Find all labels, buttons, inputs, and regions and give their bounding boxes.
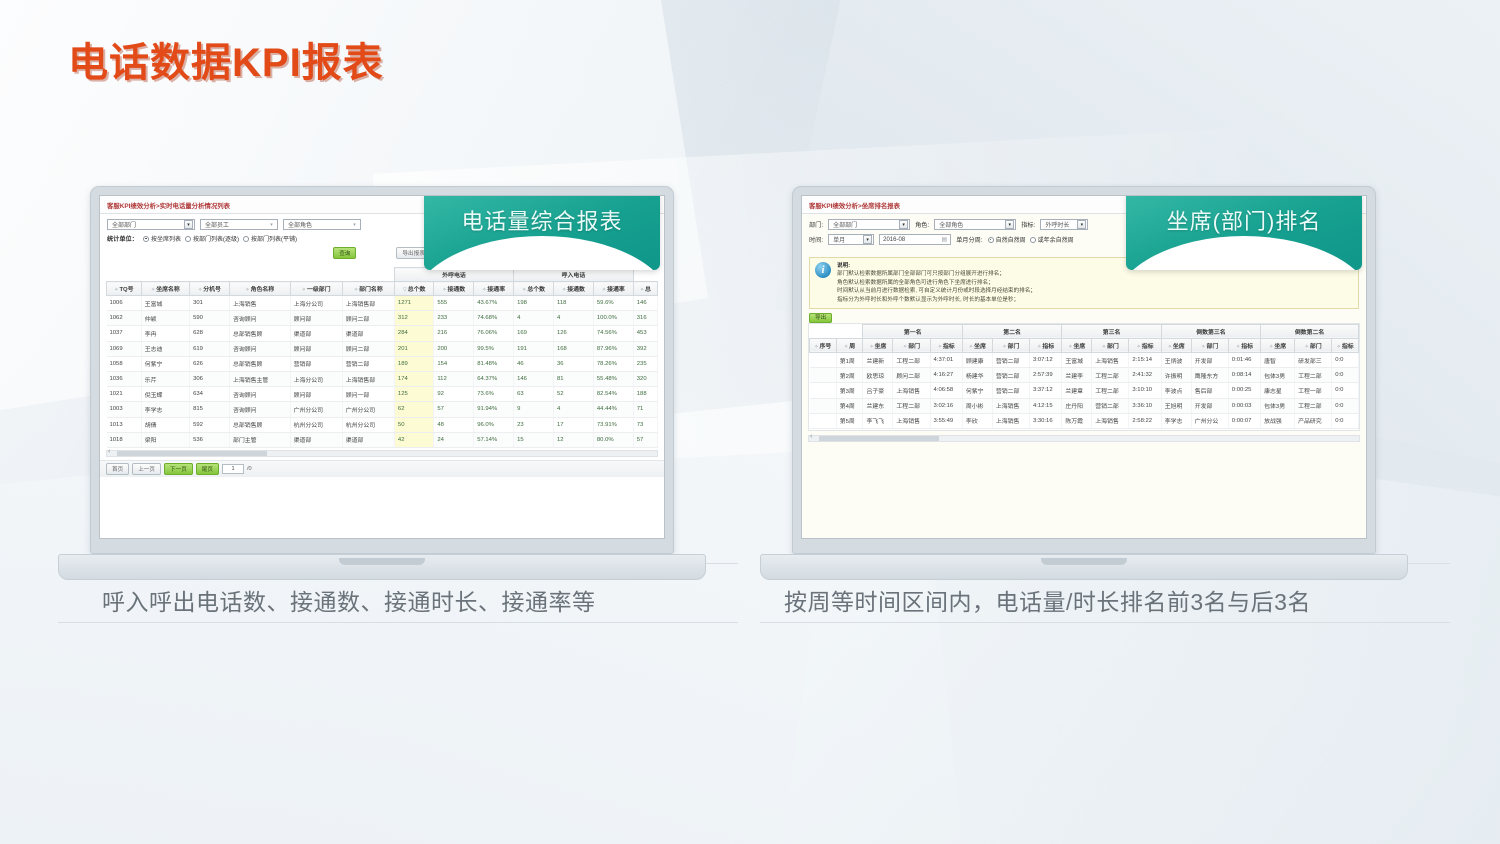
table-cell: 81 [554,371,594,386]
table-column-header-row: ✧序号✧周✧坐席✧部门✧指标✧坐席✧部门✧指标✧坐席✧部门✧指标✧坐席✧部门✧指… [810,338,1359,352]
col-1[interactable]: ✧周 [836,338,863,352]
sort-icon: ✧ [1068,344,1072,350]
ribbon-label-right: 坐席(部门)排名 [1167,204,1322,236]
table-row[interactable]: 1037李冉628总部销售顾渠道部渠道部28421676.06%16912674… [107,326,658,341]
col-0[interactable]: ✧序号 [810,338,837,352]
table-cell: 杭州分公司 [290,417,342,432]
page-number-input[interactable]: 1 [222,464,244,474]
table-cell: 兰建东 [863,398,893,413]
table-cell: 营销二部 [992,352,1029,367]
table-container-right: 第一名 第二名 第三名 倒数第三名 倒数第二名 ✧序号✧周✧坐席✧部门✧指标✧坐… [808,323,1360,431]
staff-select[interactable]: 全部员工 ▾ [200,219,278,230]
table-cell: 233 [434,311,474,326]
table-cell: 3:36:10 [1129,398,1161,413]
table-cell: 44.44% [593,402,633,417]
chevron-down-icon: ▾ [267,220,276,229]
table-cell: 74.68% [474,311,514,326]
table-cell: 15 [514,432,554,447]
sort-icon: ✧ [1337,344,1341,350]
role-select-right[interactable]: 全部角色 ▾ [934,219,1016,230]
table-column-header-row: ✧TQ号 ✧坐席名称 ✧分机号 ✧角色名称 ✧一级部门 ✧部门名称 ▽总个数 ✧… [107,282,658,296]
table-cell: 顾问一部 [342,387,394,402]
col-10[interactable]: ✧指标 [1129,338,1161,352]
table-cell: 王炳波 [1161,352,1191,367]
table-cell: 2:58:22 [1129,413,1161,428]
col-out-connected[interactable]: ✧接通数 [434,282,474,296]
col-ext[interactable]: ✧分机号 [190,282,230,296]
table-row[interactable]: 第2周欧思琼顾问二部4:16:27杨建华营销二部2:57:39兰建李工程二部2:… [810,368,1359,383]
staff-select-value: 全部员工 [205,220,229,229]
next-page-button[interactable]: 下一页 [164,463,193,475]
col-tq[interactable]: ✧TQ号 [107,282,142,296]
table-container-left: 外呼电话 呼入电话 ✧TQ号 ✧坐席名称 ✧分机号 ✧角色名称 ✧一级部门 ✧部… [100,267,664,448]
table-cell: 兰建新 [863,352,893,367]
table-cell: 顾问部 [290,341,342,356]
col-dept[interactable]: ✧部门名称 [342,282,394,296]
table-cell: 顾问二部 [342,311,394,326]
table-cell: 1006 [107,296,142,311]
table-cell: 唐智 [1261,352,1295,367]
table-cell: 0:00:03 [1228,398,1260,413]
table-cell: 12 [554,432,594,447]
horizontal-scrollbar-left[interactable] [106,450,658,457]
table-cell: 154 [434,356,474,371]
table-cell: 555 [434,296,474,311]
table-cell: 99.5% [474,341,514,356]
group-header-bottom3: 倒数第三名 [1161,324,1260,338]
laptop-base-right [760,554,1408,580]
table-cell: 62 [394,402,433,417]
table-cell: 杨建华 [962,368,992,383]
divider-right-bottom [760,622,1450,623]
table-cell: 营销部 [290,356,342,371]
chevron-down-icon: ▾ [1005,220,1014,229]
group-header-bottom2: 倒数第二名 [1261,324,1359,338]
unit-radio-1[interactable]: 按部门列表(逐级) [185,234,239,243]
col-7[interactable]: ✧指标 [1029,338,1061,352]
ribbon-label-left: 电话量综合报表 [461,204,622,236]
table-cell: 0:0 [1332,383,1359,398]
table-cell: 咨询顾问 [229,341,290,356]
table-cell: 上海销售部 [342,296,394,311]
info-line-1: 角色默认检索数据所属的全部角色可进行角色下坐席进行排名； [837,279,1036,287]
table-cell: 营销二部 [992,383,1029,398]
split-radio-1-label: 或年余自然周 [1038,235,1074,244]
table-cell: 广州分公 [1191,413,1228,428]
ribbon-banner-right: 坐席(部门)排名 [1126,195,1362,270]
table-cell: 0:08:14 [1228,368,1260,383]
table-cell: 2:41:32 [1129,368,1161,383]
radio-icon [1030,237,1036,243]
table-cell: 0:0 [1332,352,1359,367]
horizontal-scrollbar-right[interactable] [808,435,1360,442]
table-cell: 上海分公司 [290,296,342,311]
col-dept1[interactable]: ✧一级部门 [290,282,342,296]
table-cell: 91.94% [474,402,514,417]
table-cell: 73.91% [593,417,633,432]
col-role[interactable]: ✧角色名称 [229,282,290,296]
table-cell: 上海销售 [992,413,1029,428]
table-cell: 200 [434,341,474,356]
info-icon: i [815,262,831,278]
table-row[interactable]: 1069王志迪619咨询顾问顾问部顾问二部20120099.5%19116887… [107,341,658,356]
table-cell: 上海销售 [229,296,290,311]
table-cell: 兰建李 [1062,368,1092,383]
table-cell: 48 [434,417,474,432]
col-15[interactable]: ✧部门 [1295,338,1332,352]
table-cell: 112 [434,371,474,386]
table-cell: 顾问部 [290,311,342,326]
table-cell: 100.0% [593,311,633,326]
table-cell: 96.0% [474,417,514,432]
calendar-icon[interactable]: ▤ [941,236,947,243]
table-cell: 顾问二部 [893,368,930,383]
col-14[interactable]: ✧坐席 [1261,338,1295,352]
col-3[interactable]: ✧部门 [893,338,930,352]
radio-icon [185,236,191,242]
col-extra[interactable]: ✧总 [633,282,657,296]
table-cell: 76.06% [474,326,514,341]
table-cell: 庄丹阳 [1062,398,1092,413]
table-cell: 23 [514,417,554,432]
table-cell: 仲颖 [141,311,189,326]
col-in-connected[interactable]: ✧接通数 [554,282,594,296]
table-cell: 2:57:39 [1029,368,1061,383]
sort-icon: ✧ [1269,344,1273,350]
time-unit-select[interactable]: 单月 ▾ [828,234,874,245]
table-cell: 3:55:49 [930,413,962,428]
table-cell: 306 [190,371,230,386]
col-11[interactable]: ✧坐席 [1161,338,1191,352]
sort-icon: ✧ [1236,344,1240,350]
table-cell: 634 [190,387,230,402]
table-cell: 产品研究 [1295,413,1332,428]
table-cell: 198 [514,296,554,311]
row-index [810,398,837,413]
col-12[interactable]: ✧部门 [1191,338,1228,352]
table-cell: 包体3男 [1261,398,1295,413]
table-cell: 何紫宁 [962,383,992,398]
table-cell: 1036 [107,371,142,386]
table-cell: 欧思琼 [863,368,893,383]
table-cell: 广州分公司 [290,402,342,417]
table-cell: 第4周 [836,398,863,413]
dept-select[interactable]: 全部部门 ▾ [107,219,195,230]
table-cell: 研发部三 [1295,352,1332,367]
unit-radio-2[interactable]: 按部门列表(平铺) [243,234,297,243]
sort-icon: ✧ [1102,344,1106,350]
table-cell: 1018 [107,432,142,447]
table-row[interactable]: 第1周兰建新工程二部4:37:01顾建康营销二部3:07:12王富城上海销售2:… [810,352,1359,367]
col-5[interactable]: ✧坐席 [962,338,992,352]
sort-icon: ✧ [1201,344,1205,350]
table-cell: 312 [394,311,433,326]
table-cell: 工程二部 [1092,368,1129,383]
row-index [810,352,837,367]
table-cell: 284 [394,326,433,341]
table-row[interactable]: 1018梁阳536部门主管渠道部渠道部422457.14%151280.0%57 [107,432,658,447]
table-cell: 55.48% [593,371,633,386]
col-2[interactable]: ✧坐席 [863,338,893,352]
table-cell: 1058 [107,356,142,371]
info-text: 说明: 部门默认检索数据所属部门全部部门可只按部门分组展开进行排名； 角色默认检… [837,262,1036,304]
table-cell: 总部销售顾 [229,417,290,432]
table-cell: 3:02:16 [930,398,962,413]
table-cell: 陈万霞 [1062,413,1092,428]
table-cell: 李学志 [141,402,189,417]
col-8[interactable]: ✧坐席 [1062,338,1092,352]
table-cell: 57.14% [474,432,514,447]
col-9[interactable]: ✧部门 [1092,338,1129,352]
col-16[interactable]: ✧指标 [1332,338,1359,352]
table-cell: 0:01:46 [1228,352,1260,367]
sort-icon: ✧ [844,344,848,350]
ranking-table: 第一名 第二名 第三名 倒数第三名 倒数第二名 ✧序号✧周✧坐席✧部门✧指标✧坐… [809,324,1359,429]
col-in-rate[interactable]: ✧接通率 [593,282,633,296]
table-cell: 李欣 [962,413,992,428]
table-cell: 部门主管 [229,432,290,447]
unit-radio-0-label: 按坐席列表 [151,234,181,243]
table-cell: 235 [633,356,657,371]
table-cell: 64.37% [474,371,514,386]
info-line-0: 部门默认检索数据所属部门全部部门可只按部门分组展开进行排名； [837,270,1036,278]
table-cell: 营销二部 [992,368,1029,383]
group-header-rank3: 第三名 [1062,324,1161,338]
metric-select-value: 外呼时长 [1045,220,1069,229]
table-head: 第一名 第二名 第三名 倒数第三名 倒数第二名 ✧序号✧周✧坐席✧部门✧指标✧坐… [810,324,1359,352]
table-cell: 工程一部 [1295,383,1332,398]
pagination-bar-left: 首页 上一页 下一页 尾页 1 /0 [100,460,664,477]
table-cell: 628 [190,326,230,341]
table-cell: 590 [190,311,230,326]
table-cell: 乐芹 [141,371,189,386]
table-group-header-row: 第一名 第二名 第三名 倒数第三名 倒数第二名 [810,324,1359,338]
table-row[interactable]: 1058何紫宁626总部销售顾营销部营销二部18915481.48%463678… [107,356,658,371]
split-radio-group[interactable]: 自然自然周 或年余自然周 [988,235,1074,244]
table-cell: 188 [633,387,657,402]
table-cell: 顾问部 [290,387,342,402]
split-radio-1[interactable]: 或年余自然周 [1030,235,1074,244]
table-cell: 梁阳 [141,432,189,447]
table-cell: 320 [633,371,657,386]
table-row[interactable]: 第4周兰建东工程二部3:02:16周小彬上海销售4:12:15庄丹阳营销二部3:… [810,398,1359,413]
table-cell: 售后部 [1191,383,1228,398]
table-body: 第1周兰建新工程二部4:37:01顾建康营销二部3:07:12王富城上海销售2:… [810,352,1359,428]
table-cell: 1003 [107,402,142,417]
table-cell: 43.67% [474,296,514,311]
table-cell: 592 [190,417,230,432]
info-line-2: 时间默认从当前月进行数据检索, 可自定义统计月份或时段选择月经结束的排名； [837,287,1036,295]
laptop-mockup-left: 电话量综合报表 客服KPI绩效分析>实时电话量分析情况列表 全部部门 ▾ 全部员… [58,186,706,580]
table-cell: 4 [514,311,554,326]
group-header-rank1: 第一名 [863,324,962,338]
time-label: 时间: [809,235,823,244]
unit-radio-0[interactable]: 按坐席列表 [143,234,181,243]
prev-page-button[interactable]: 上一页 [132,463,161,475]
role-select[interactable]: 全部角色 ▾ [283,219,361,230]
table-row[interactable]: 第3周吕子豪上海销售4:06:58何紫宁营销二部3:37:12兰建章工程二部3:… [810,383,1359,398]
col-in-total[interactable]: ✧总个数 [514,282,554,296]
table-cell: 118 [554,296,594,311]
table-cell: 0:00:07 [1228,413,1260,428]
table-cell: 王旭明 [1161,398,1191,413]
table-cell: 392 [633,341,657,356]
table-cell: 顾问二部 [342,341,394,356]
row-index [810,413,837,428]
sort-icon: ✧ [1137,344,1141,350]
table-cell: 59.6% [593,296,633,311]
table-cell: 301 [190,296,230,311]
col-out-total[interactable]: ▽总个数 [394,282,433,296]
table-cell: 3:37:12 [1029,383,1061,398]
table-cell: 9 [514,402,554,417]
query-button[interactable]: 查询 [333,247,356,259]
table-cell: 74.56% [593,326,633,341]
col-6[interactable]: ✧部门 [992,338,1029,352]
first-page-button[interactable]: 首页 [106,463,129,475]
table-cell: 工程二部 [1295,368,1332,383]
phone-volume-table: 外呼电话 呼入电话 ✧TQ号 ✧坐席名称 ✧分机号 ✧角色名称 ✧一级部门 ✧部… [106,267,658,448]
metric-label: 指标: [1021,220,1035,229]
table-cell: 78.26% [593,356,633,371]
radio-icon [988,237,994,243]
table-row[interactable]: 1036乐芹306上海销售主管上海分公司上海销售部17411264.37%146… [107,371,658,386]
table-cell: 工程二部 [893,398,930,413]
split-radio-0-label: 自然自然周 [996,235,1026,244]
table-cell: 3:30:16 [1029,413,1061,428]
table-cell: 渠道部 [290,432,342,447]
scrollbar-thumb[interactable] [819,436,939,441]
sort-icon: ✧ [969,344,973,350]
table-cell: 57 [633,432,657,447]
table-cell: 总部销售顾 [229,356,290,371]
dept-select-value: 全部部门 [112,220,136,229]
table-cell: 李冉 [141,326,189,341]
table-row[interactable]: 1006王富城301上海销售上海分公司上海销售部127155543.67%198… [107,296,658,311]
date-input[interactable]: 2016-08 ▤ [879,234,951,245]
split-radio-0[interactable]: 自然自然周 [988,235,1026,244]
table-cell: 536 [190,432,230,447]
chevron-down-icon: ▾ [350,220,359,229]
table-cell: 上海销售 [1092,413,1129,428]
unit-radio-1-label: 按部门列表(逐级) [193,234,239,243]
table-cell: 胡倩 [141,417,189,432]
unit-radio-group[interactable]: 按坐席列表 按部门列表(逐级) 按部门列表(平铺) [143,234,297,243]
table-cell: 开发部 [1191,398,1228,413]
table-cell: 146 [633,296,657,311]
table-cell: 92 [434,387,474,402]
table-row[interactable]: 1013胡倩592总部销售顾杭州分公司杭州分公司504896.0%231773.… [107,417,658,432]
col-agent-name[interactable]: ✧坐席名称 [141,282,189,296]
table-cell: 42 [394,432,433,447]
table-cell: 杭州分公司 [342,417,394,432]
table-cell: 0:0 [1332,368,1359,383]
table-cell: 鹰隆东方 [1191,368,1228,383]
info-line-3: 指标分为外呼时长和外呼个数默认显示为外呼时长, 时长的基本单位是秒； [837,296,1036,304]
chevron-down-icon: ▾ [1077,220,1086,229]
table-cell: 52 [554,387,594,402]
table-cell: 169 [514,326,554,341]
table-cell: 3:07:12 [1029,352,1061,367]
export-row: 导出 [802,313,1366,323]
laptop-screen-right: 坐席(部门)排名 客服KPI绩效分析>坐席排名报表 部门: 全部部门 ▾ 角色:… [801,195,1367,539]
table-row[interactable]: 1021倪玉蝶634咨询顾问顾问部顾问一部1259273.6%635282.54… [107,387,658,402]
role-select-right-value: 全部角色 [939,220,963,229]
table-cell: 渠道部 [342,326,394,341]
table-cell: 626 [190,356,230,371]
last-page-button[interactable]: 尾页 [196,463,219,475]
table-cell: 开发部 [1191,352,1228,367]
table-cell: 第5周 [836,413,863,428]
table-cell: 工程二部 [893,352,930,367]
table-cell: 453 [633,326,657,341]
table-cell: 渠道部 [290,326,342,341]
table-cell: 71 [633,402,657,417]
table-cell: 顾建康 [962,352,992,367]
dept-select-right-value: 全部部门 [833,220,857,229]
table-cell: 营销二部 [1092,398,1129,413]
page-title: 电话数据KPI报表 [68,30,384,88]
row-index [810,368,837,383]
table-cell: 营销二部 [342,356,394,371]
table-cell: 咨询顾问 [229,387,290,402]
col-out-rate[interactable]: ✧接通率 [474,282,514,296]
dept-select-right[interactable]: 全部部门 ▾ [828,219,910,230]
table-cell: 吕子豪 [863,383,893,398]
table-cell: 总部销售顾 [229,326,290,341]
sort-icon: ✧ [1002,344,1006,350]
table-cell: 上海销售 [893,383,930,398]
table-cell: 316 [633,311,657,326]
table-cell: 125 [394,387,433,402]
table-cell: 王富城 [141,296,189,311]
table-cell: 126 [554,326,594,341]
unit-label: 统计单位： [107,234,138,243]
table-cell: 0:0 [1332,413,1359,428]
table-cell: 许振明 [1161,368,1191,383]
table-row[interactable]: 第5周李飞飞上海销售3:55:49李欣上海销售3:30:16陈万霞上海销售2:5… [810,413,1359,428]
laptop-lid-left: 电话量综合报表 客服KPI绩效分析>实时电话量分析情况列表 全部部门 ▾ 全部员… [90,186,674,554]
table-cell: 第1周 [836,352,863,367]
table-cell: 174 [394,371,433,386]
table-row[interactable]: 1062仲颖590咨询顾问顾问部顾问二部31223374.68%44100.0%… [107,311,658,326]
metric-select[interactable]: 外呼时长 ▾ [1040,219,1088,230]
table-cell: 王志迪 [141,341,189,356]
table-cell: 168 [554,341,594,356]
export-button-right[interactable]: 导出 [809,313,832,323]
sort-icon: ✧ [1037,344,1041,350]
table-cell: 倪玉蝶 [141,387,189,402]
col-4[interactable]: ✧指标 [930,338,962,352]
laptop-screen-left: 电话量综合报表 客服KPI绩效分析>实时电话量分析情况列表 全部部门 ▾ 全部员… [99,195,665,539]
table-cell: 189 [394,356,433,371]
table-cell: 工程二部 [1295,398,1332,413]
role-label: 角色: [915,220,929,229]
table-cell: 3:10:10 [1129,383,1161,398]
laptop-base-left [58,554,706,580]
table-cell: 康志星 [1261,383,1295,398]
table-cell: 17 [554,417,594,432]
table-cell: 46 [514,356,554,371]
table-cell: 李波点 [1161,383,1191,398]
dept-label: 部门: [809,220,823,229]
sort-icon: ✧ [938,344,942,350]
laptop-lid-right: 坐席(部门)排名 客服KPI绩效分析>坐席排名报表 部门: 全部部门 ▾ 角色:… [792,186,1376,554]
table-cell: 4 [554,311,594,326]
scrollbar-thumb[interactable] [117,451,267,456]
table-row[interactable]: 1003李学志815咨询顾问广州分公司广州分公司625791.94%9444.4… [107,402,658,417]
col-13[interactable]: ✧指标 [1228,338,1260,352]
